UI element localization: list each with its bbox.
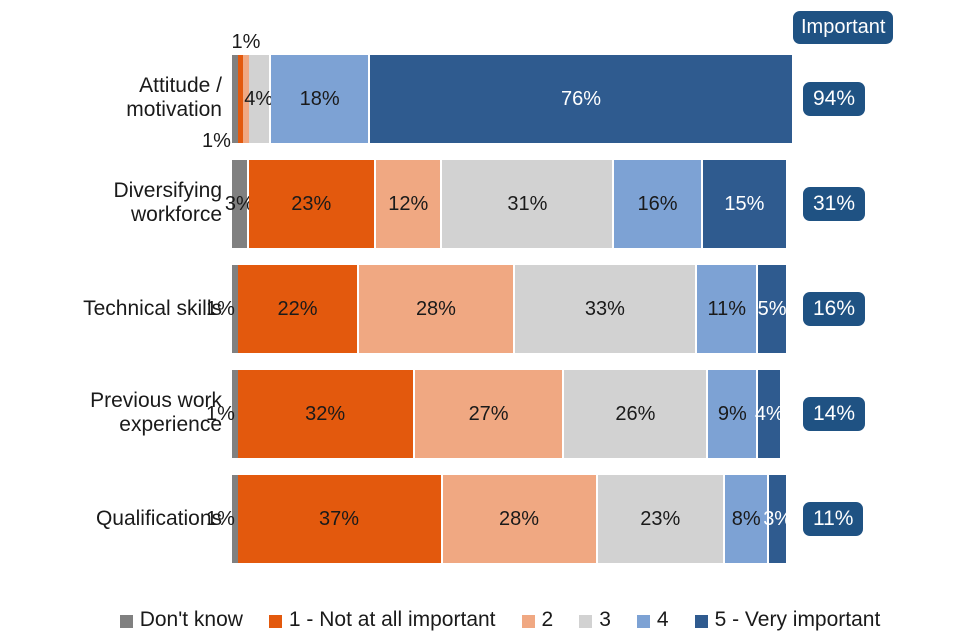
segment-value-label: 28% <box>499 509 539 529</box>
category-label: Previous workexperience <box>12 389 222 436</box>
bar-segment-rating-3[interactable]: 23% <box>598 475 725 563</box>
segment-value-label: 16% <box>638 194 678 214</box>
important-total-badge: 31% <box>803 187 865 221</box>
segment-value-callout: 1% <box>206 509 235 529</box>
bar-segment-rating-1[interactable]: 23% <box>249 160 376 248</box>
bar-segment-rating-3[interactable]: 33% <box>515 265 698 353</box>
bar-segment-rating-2[interactable]: 12% <box>376 160 442 248</box>
legend-item-label: 1 - Not at all important <box>289 608 496 632</box>
bar-segment-rating-3[interactable]: 31% <box>442 160 614 248</box>
segment-value-label: 37% <box>319 509 359 529</box>
segment-value-label: 26% <box>615 404 655 424</box>
bar-segment-rating-2[interactable]: 27% <box>415 370 565 458</box>
segment-value-callout: 1% <box>202 131 231 151</box>
legend-item-rating-5[interactable]: 5 - Very important <box>695 608 881 632</box>
important-total-badge: 16% <box>803 292 865 326</box>
segment-value-label: 28% <box>416 299 456 319</box>
bar-segment-rating-2[interactable]: 28% <box>359 265 514 353</box>
bar-segment-rating-4[interactable]: 11% <box>697 265 758 353</box>
category-label: Diversifyingworkforce <box>12 179 222 226</box>
segment-value-label: 22% <box>277 299 317 319</box>
category-label-line: Qualifications <box>12 507 222 531</box>
legend-swatch-icon <box>269 615 282 628</box>
stacked-bar-chart: Important Attitude /motivation4%18%76%1%… <box>0 0 960 640</box>
segment-value-label: 27% <box>469 404 509 424</box>
segment-value-label: 4% <box>755 404 784 424</box>
segment-value-label: 76% <box>561 89 601 109</box>
legend-swatch-icon <box>522 615 535 628</box>
legend-swatch-icon <box>637 615 650 628</box>
stacked-bar: 4%18%76% <box>232 55 786 143</box>
segment-value-label: 9% <box>718 404 747 424</box>
important-total-badge: 94% <box>803 82 865 116</box>
category-label: Qualifications <box>12 507 222 531</box>
segment-value-callout: 1% <box>206 404 235 424</box>
legend-item-dont-know[interactable]: Don't know <box>120 608 243 632</box>
bar-segment-rating-5[interactable]: 3% <box>769 475 786 563</box>
bar-segment-rating-5[interactable]: 15% <box>703 160 786 248</box>
category-label-line: Technical skills <box>12 297 222 321</box>
category-label-line: Attitude / <box>12 74 222 98</box>
segment-value-label: 32% <box>305 404 345 424</box>
bar-segment-rating-1[interactable]: 32% <box>238 370 415 458</box>
important-total-badge: 11% <box>803 502 863 536</box>
important-column-header: Important <box>793 11 893 44</box>
bar-segment-rating-5[interactable]: 76% <box>370 55 791 143</box>
segment-value-label: 5% <box>758 299 787 319</box>
segment-value-callout: 1% <box>206 299 235 319</box>
bar-segment-rating-5[interactable]: 5% <box>758 265 786 353</box>
bar-segment-rating-4[interactable]: 9% <box>708 370 758 458</box>
category-label-line: experience <box>12 413 222 437</box>
bar-segment-rating-1[interactable]: 22% <box>238 265 360 353</box>
segment-value-label: 18% <box>300 89 340 109</box>
legend-swatch-icon <box>695 615 708 628</box>
stacked-bar: 32%27%26%9%4% <box>232 370 786 458</box>
legend-item-label: 4 <box>657 608 669 632</box>
legend-item-label: 5 - Very important <box>715 608 881 632</box>
bar-segment-rating-4[interactable]: 16% <box>614 160 703 248</box>
legend-item-rating-1[interactable]: 1 - Not at all important <box>269 608 496 632</box>
stacked-bar: 37%28%23%8%3% <box>232 475 786 563</box>
category-label-line: motivation <box>12 98 222 122</box>
bar-segment-rating-3[interactable]: 4% <box>249 55 271 143</box>
segment-value-label: 33% <box>585 299 625 319</box>
legend-swatch-icon <box>120 615 133 628</box>
category-label: Technical skills <box>12 297 222 321</box>
bar-segment-rating-1[interactable]: 37% <box>238 475 443 563</box>
legend-item-label: Don't know <box>140 608 243 632</box>
bar-segment-dont-know[interactable]: 3% <box>232 160 249 248</box>
segment-value-label: 12% <box>388 194 428 214</box>
category-label-line: Diversifying <box>12 179 222 203</box>
bar-segment-rating-4[interactable]: 18% <box>271 55 371 143</box>
legend-item-label: 2 <box>542 608 554 632</box>
bar-segment-rating-3[interactable]: 26% <box>564 370 708 458</box>
stacked-bar: 22%28%33%11%5% <box>232 265 786 353</box>
legend-item-rating-3[interactable]: 3 <box>579 608 611 632</box>
legend-item-rating-4[interactable]: 4 <box>637 608 669 632</box>
chart-legend: Don't know1 - Not at all important2345 -… <box>0 608 960 632</box>
legend-item-label: 3 <box>599 608 611 632</box>
category-label-line: workforce <box>12 203 222 227</box>
segment-value-callout: 1% <box>232 32 261 52</box>
category-label-line: Previous work <box>12 389 222 413</box>
legend-item-rating-2[interactable]: 2 <box>522 608 554 632</box>
stacked-bar: 3%23%12%31%16%15% <box>232 160 786 248</box>
segment-value-label: 4% <box>244 89 273 109</box>
important-total-badge: 14% <box>803 397 865 431</box>
category-label: Attitude /motivation <box>12 74 222 121</box>
segment-value-label: 11% <box>708 299 747 319</box>
segment-value-label: 23% <box>291 194 331 214</box>
segment-value-label: 8% <box>732 509 761 529</box>
bar-segment-rating-4[interactable]: 8% <box>725 475 769 563</box>
segment-value-label: 15% <box>724 194 764 214</box>
bar-segment-rating-2[interactable]: 28% <box>443 475 598 563</box>
legend-swatch-icon <box>579 615 592 628</box>
segment-value-label: 31% <box>507 194 547 214</box>
bar-segment-rating-5[interactable]: 4% <box>758 370 780 458</box>
segment-value-label: 23% <box>640 509 680 529</box>
